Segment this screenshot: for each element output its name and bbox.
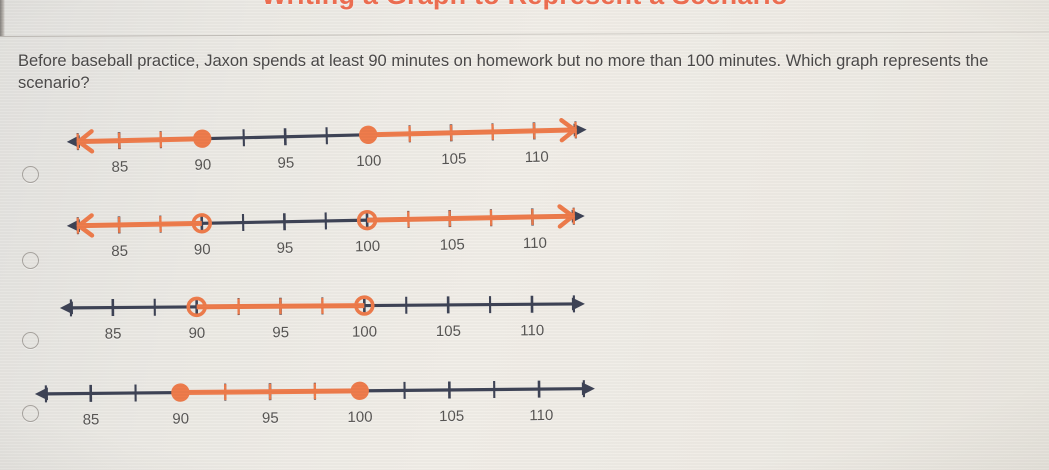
axis-tick-label: 105 xyxy=(441,150,466,168)
title-band: Writing a Graph to Represent a Scenario xyxy=(0,0,1049,36)
radio-button-b[interactable] xyxy=(22,252,39,269)
number-line-a: 859095100105110 xyxy=(61,104,593,186)
axis-tick-label: 110 xyxy=(529,407,553,424)
question-text: Before baseball practice, Jaxon spends a… xyxy=(18,50,1034,95)
axis-tick-label: 90 xyxy=(172,410,189,427)
axis-tick-label: 100 xyxy=(352,323,377,340)
axis-tick-label: 105 xyxy=(440,236,465,253)
number-line-d: 859095100105110 xyxy=(30,363,601,438)
axis-tick-label: 95 xyxy=(272,324,289,341)
axis-tick-label: 85 xyxy=(105,325,122,342)
page-title: Writing a Graph to Represent a Scenario xyxy=(0,0,1049,11)
axis-tick-label: 110 xyxy=(525,149,549,167)
axis-tick-label: 95 xyxy=(262,410,279,427)
axis-tick-label: 95 xyxy=(277,155,294,172)
axis-tick-label: 85 xyxy=(83,411,100,428)
axis-tick-label: 85 xyxy=(111,243,128,260)
axis-tick-label: 90 xyxy=(194,241,211,258)
number-line-c: 859095100105110 xyxy=(55,278,591,352)
axis-tick-label: 110 xyxy=(523,235,547,252)
axis-tick-label: 85 xyxy=(111,158,128,175)
axis-tick-label: 100 xyxy=(356,152,381,170)
axis-tick-label: 90 xyxy=(194,156,211,173)
axis-tick-label: 105 xyxy=(439,408,464,425)
axis-tick-label: 95 xyxy=(276,240,293,257)
axis-tick-label: 110 xyxy=(520,322,544,339)
axis-tick-label: 100 xyxy=(355,238,380,255)
radio-button-c[interactable] xyxy=(22,332,39,349)
number-line-b: 859095100105110 xyxy=(61,190,590,270)
radio-button-a[interactable] xyxy=(22,166,39,183)
axis-tick-label: 90 xyxy=(188,325,205,342)
axis-tick-label: 105 xyxy=(436,323,461,340)
axis-tick-label: 100 xyxy=(347,409,372,426)
